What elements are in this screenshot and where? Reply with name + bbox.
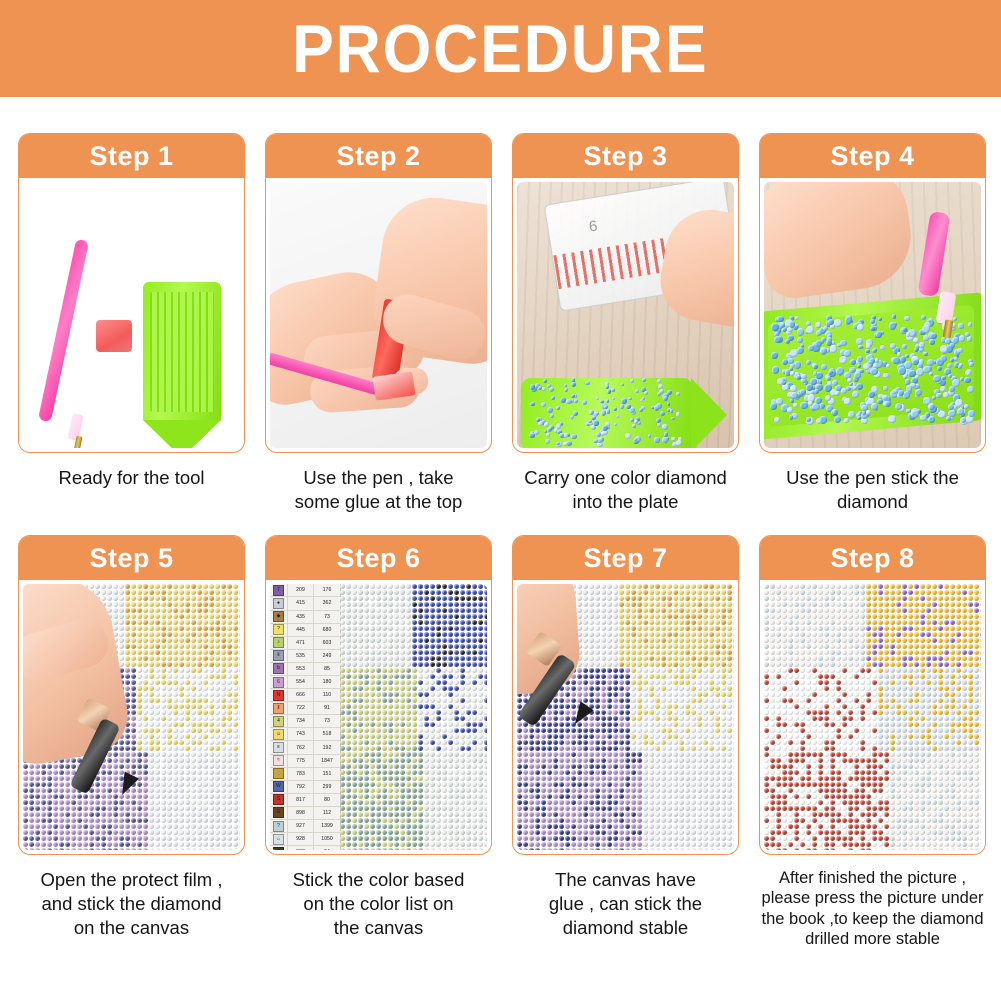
caption-line: some glue at the top [265, 490, 492, 514]
color-swatch-icon: ☺ [273, 729, 284, 740]
color-list-row: ⌘93894 [270, 846, 340, 850]
caption-line: the book ,to keep the diamond [759, 909, 986, 929]
caption-line: Use the pen stick the [759, 466, 986, 490]
color-code-cell: 927 [288, 820, 314, 832]
procedure-infographic: PROCEDURE Step 1 [0, 0, 1001, 1001]
color-list-row: T209176 [270, 584, 340, 597]
step-6-caption: Stick the color based on the color list … [265, 868, 492, 939]
step-8-caption: After finished the picture , please pres… [759, 868, 986, 949]
color-list-row: 473473 [270, 715, 340, 728]
color-count-cell: 91 [314, 702, 340, 714]
step-card-step-5: Step 5 Open the protect film , [18, 535, 245, 949]
color-swatch-icon: ● [273, 598, 284, 609]
color-swatch-icon: ⚓ [273, 768, 284, 779]
glue-photo [270, 182, 487, 448]
color-symbol-cell: ‖ [270, 702, 288, 714]
color-symbol-cell: b [270, 663, 288, 675]
color-swatch-icon: N [273, 690, 284, 701]
finished-canvas-photo [764, 584, 981, 850]
blue-drills-icon [770, 314, 970, 418]
steps-row-2: Step 5 Open the protect film , [18, 535, 983, 949]
step-2-header: Step 2 [266, 134, 491, 178]
color-code-cell: 535 [288, 650, 314, 662]
color-count-cell: 180 [314, 676, 340, 688]
color-list-row: ‖72291 [270, 702, 340, 715]
caption-line: and stick the diamond [18, 892, 245, 916]
color-count-cell: 80 [314, 794, 340, 806]
step-1-card: Step 1 [18, 133, 245, 453]
color-list-row: ☺743518 [270, 728, 340, 741]
color-swatch-icon: ◆ [273, 611, 284, 622]
color-swatch-icon: b [273, 663, 284, 674]
color-list-row: ?9271399 [270, 820, 340, 833]
step-8-card: Step 8 [759, 535, 986, 855]
color-swatch-icon: ⌂ [273, 834, 284, 845]
color-symbol-cell: S [270, 794, 288, 806]
color-code-cell: 435 [288, 611, 314, 623]
step-4-caption: Use the pen stick the diamond [759, 466, 986, 513]
color-code-cell: 928 [288, 833, 314, 845]
color-symbol-cell: W [270, 781, 288, 793]
step-4-card: Step 4 [759, 133, 986, 453]
caption-line: The canvas have [512, 868, 739, 892]
color-count-cell: 1050 [314, 833, 340, 845]
color-code-cell: 898 [288, 807, 314, 819]
color-list-row: ●415362 [270, 597, 340, 610]
color-swatch-icon: T [273, 585, 284, 596]
color-count-cell: 362 [314, 597, 340, 609]
color-list-row: S81780 [270, 794, 340, 807]
step-6-image: T209176●415362◆43573?445680♪471603Ⅱ53524… [270, 584, 487, 850]
step-7-header: Step 7 [513, 536, 738, 580]
caption-line: diamond [759, 490, 986, 514]
color-symbol-cell: ≈ [270, 755, 288, 767]
color-count-cell: 299 [314, 781, 340, 793]
color-swatch-icon: 6 [273, 677, 284, 688]
color-list-row: W792299 [270, 781, 340, 794]
step-8-image [764, 584, 981, 850]
step-2-card: Step 2 [265, 133, 492, 453]
color-list-row: b55385 [270, 663, 340, 676]
step-1-image [23, 182, 240, 448]
color-code-cell: 762 [288, 741, 314, 753]
blue-drills-icon [529, 378, 679, 442]
step-6-card: Step 6 T209176●415362◆43573?445680♪47160… [265, 535, 492, 855]
color-swatch-icon: Ⅱ [273, 650, 284, 661]
color-code-cell: 666 [288, 689, 314, 701]
color-code-cell: 792 [288, 781, 314, 793]
step-3-image: 6 [517, 182, 734, 448]
caption-line: please press the picture under [759, 888, 986, 908]
sticky-canvas-photo [517, 584, 734, 850]
step-3-card: Step 3 6 [512, 133, 739, 453]
caption-line: Stick the color based [265, 868, 492, 892]
step-5-image [23, 584, 240, 850]
color-count-cell: 518 [314, 728, 340, 740]
pick-drill-photo [764, 182, 981, 448]
color-swatch-icon: S [273, 794, 284, 805]
color-code-cell: 209 [288, 584, 314, 596]
step-1-header: Step 1 [19, 134, 244, 178]
color-symbol-cell: 6 [270, 676, 288, 688]
step-4-image [764, 182, 981, 448]
color-count-cell: 1399 [314, 820, 340, 832]
color-symbol-cell: ● [270, 597, 288, 609]
color-list-row: ?445680 [270, 624, 340, 637]
caption-line: Carry one color diamond [512, 466, 739, 490]
color-swatch-icon: ♪ [273, 637, 284, 648]
color-symbol-cell: ◆ [270, 611, 288, 623]
step-4-header: Step 4 [760, 134, 985, 178]
caption-line: Open the protect film , [18, 868, 245, 892]
canvas-mosaic-icon [340, 584, 487, 850]
color-list-row: 6554180 [270, 676, 340, 689]
caption-line: on the canvas [18, 916, 245, 940]
color-count-cell: 112 [314, 807, 340, 819]
color-code-cell: 554 [288, 676, 314, 688]
color-count-cell: 110 [314, 689, 340, 701]
page-title: PROCEDURE [292, 15, 708, 83]
color-count-cell: 1847 [314, 755, 340, 767]
color-count-cell: 176 [314, 584, 340, 596]
color-symbol-cell: G [270, 807, 288, 819]
step-card-step-2: Step 2 [265, 133, 492, 513]
color-list-row: ≈7751847 [270, 755, 340, 768]
color-count-cell: 73 [314, 611, 340, 623]
page-banner: PROCEDURE [0, 0, 1001, 97]
color-count-cell: 94 [314, 846, 340, 850]
color-list-table: T209176●415362◆43573?445680♪471603Ⅱ53524… [270, 584, 341, 850]
step-3-header: Step 3 [513, 134, 738, 178]
color-symbol-cell: ? [270, 624, 288, 636]
color-count-cell: 151 [314, 768, 340, 780]
step-2-image [270, 182, 487, 448]
color-swatch-icon: ⌘ [273, 847, 284, 851]
color-swatch-icon: G [273, 807, 284, 818]
color-code-cell: 938 [288, 846, 314, 850]
step-6-header: Step 6 [266, 536, 491, 580]
step-card-step-7: Step 7 The canvas have glue , can stick [512, 535, 739, 949]
color-code-cell: 783 [288, 768, 314, 780]
color-symbol-cell: ☺ [270, 728, 288, 740]
step-card-step-8: Step 8 After finished the picture , plea… [759, 535, 986, 949]
step-card-step-4: Step 4 [759, 133, 986, 513]
tools-photo [23, 182, 240, 448]
color-code-cell: 471 [288, 637, 314, 649]
step-7-image [517, 584, 734, 850]
steps-row-1: Step 1 Ready for the tool [18, 133, 983, 513]
step-card-step-1: Step 1 Ready for the tool [18, 133, 245, 513]
canvas-photo [23, 584, 240, 850]
color-code-cell: 775 [288, 755, 314, 767]
tray-ribs-icon [150, 292, 214, 412]
color-count-cell: 192 [314, 741, 340, 753]
step-7-card: Step 7 [512, 535, 739, 855]
finished-canvas-mosaic-icon [764, 584, 981, 850]
color-swatch-icon: ? [273, 821, 284, 832]
color-count-cell: 249 [314, 650, 340, 662]
color-list-row: Ⅱ535249 [270, 650, 340, 663]
color-list-row: ◆43573 [270, 611, 340, 624]
caption-line: glue , can stick the [512, 892, 739, 916]
wax-square-icon [96, 320, 132, 352]
steps-grid: Step 1 Ready for the tool [0, 133, 1001, 949]
color-count-cell: 85 [314, 663, 340, 675]
color-code-cell: 445 [288, 624, 314, 636]
caption-line: After finished the picture , [759, 868, 986, 888]
color-swatch-icon: ≈ [273, 755, 284, 766]
caption-line: drilled more stable [759, 929, 986, 949]
step-card-step-6: Step 6 T209176●415362◆43573?445680♪47160… [265, 535, 492, 949]
color-swatch-icon: ≡ [273, 742, 284, 753]
color-symbol-cell: Ⅱ [270, 650, 288, 662]
step-5-header: Step 5 [19, 536, 244, 580]
step-5-card: Step 5 [18, 535, 245, 855]
step-card-step-3: Step 3 6 Carry one c [512, 133, 739, 513]
color-code-cell: 553 [288, 663, 314, 675]
step-3-caption: Carry one color diamond into the plate [512, 466, 739, 513]
color-symbol-cell: ⌘ [270, 846, 288, 850]
color-symbol-cell: N [270, 689, 288, 701]
color-count-cell: 680 [314, 624, 340, 636]
color-symbol-cell: ⌂ [270, 833, 288, 845]
step-7-caption: The canvas have glue , can stick the dia… [512, 868, 739, 939]
color-swatch-icon: ‖ [273, 703, 284, 714]
color-symbol-cell: ≡ [270, 741, 288, 753]
color-symbol-cell: ? [270, 820, 288, 832]
step-1-caption: Ready for the tool [18, 466, 245, 490]
color-list-row: N666110 [270, 689, 340, 702]
color-code-cell: 415 [288, 597, 314, 609]
pour-drills-photo: 6 [517, 182, 734, 448]
color-count-cell: 603 [314, 637, 340, 649]
pink-pen-icon [38, 239, 89, 423]
step-8-header: Step 8 [760, 536, 985, 580]
color-code-cell: 743 [288, 728, 314, 740]
step-2-caption: Use the pen , take some glue at the top [265, 466, 492, 513]
color-list-row: G898112 [270, 807, 340, 820]
caption-line: diamond stable [512, 916, 739, 940]
color-list-row: ⌂9281050 [270, 833, 340, 846]
color-swatch-icon: W [273, 781, 284, 792]
color-symbol-cell: ⚓ [270, 768, 288, 780]
color-symbol-cell: 4 [270, 715, 288, 727]
color-code-cell: 722 [288, 702, 314, 714]
caption-line: the canvas [265, 916, 492, 940]
caption-line: Use the pen , take [265, 466, 492, 490]
color-count-cell: 73 [314, 715, 340, 727]
color-list-photo: T209176●415362◆43573?445680♪471603Ⅱ53524… [270, 584, 487, 850]
color-list-row: ≡762192 [270, 741, 340, 754]
color-code-cell: 734 [288, 715, 314, 727]
caption-line: on the color list on [265, 892, 492, 916]
caption-line: into the plate [512, 490, 739, 514]
color-symbol-cell: T [270, 584, 288, 596]
color-swatch-icon: ? [273, 624, 284, 635]
color-list-row: ⚓783151 [270, 768, 340, 781]
color-symbol-cell: ♪ [270, 637, 288, 649]
color-code-cell: 817 [288, 794, 314, 806]
color-swatch-icon: 4 [273, 716, 284, 727]
color-list-row: ♪471603 [270, 637, 340, 650]
step-5-caption: Open the protect film , and stick the di… [18, 868, 245, 939]
